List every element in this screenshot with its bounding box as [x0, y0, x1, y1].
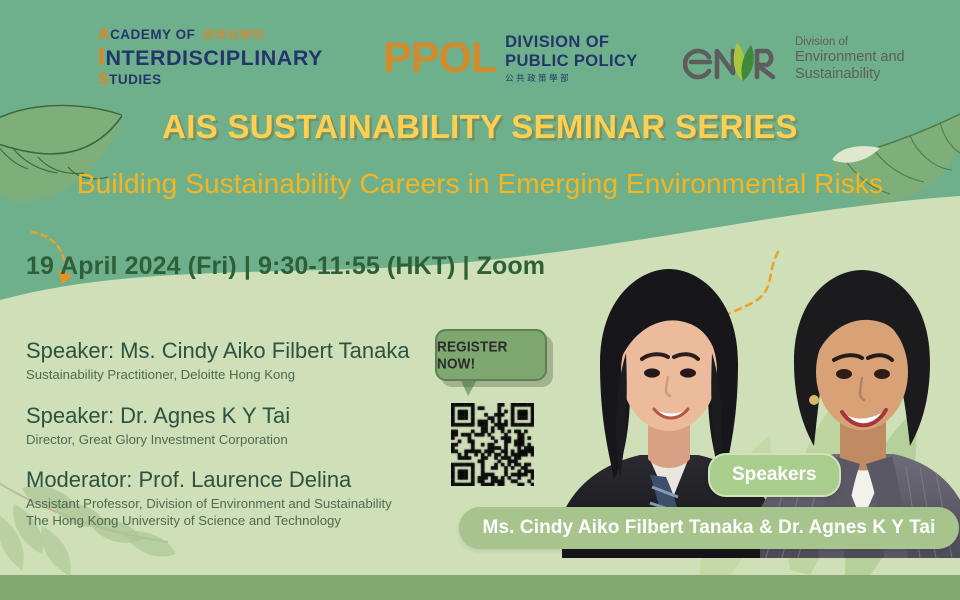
seminar-series-title: AIS SUSTAINABILITY SEMINAR SERIES — [0, 108, 960, 146]
ppol-chinese: 公共政策學部 — [505, 72, 638, 84]
people-list: Speaker: Ms. Cindy Aiko Filbert Tanaka S… — [26, 336, 456, 529]
person-entry: Speaker: Ms. Cindy Aiko Filbert Tanaka S… — [26, 336, 456, 383]
ais-logo-line2: NTERDISCIPLINARY — [105, 46, 322, 70]
seminar-subtitle: Building Sustainability Careers in Emerg… — [0, 168, 960, 200]
person-affiliation: Director, Great Glory Investment Corpora… — [26, 431, 456, 448]
qr-canvas — [451, 403, 534, 486]
person-entry: Speaker: Dr. Agnes K Y Tai Director, Gre… — [26, 401, 456, 448]
speakers-name-banner: Ms. Cindy Aiko Filbert Tanaka & Dr. Agne… — [459, 507, 959, 549]
envr-line1: Division of — [795, 35, 905, 49]
seminar-datetime: 19 April 2024 (Fri) | 9:30-11:55 (HKT) |… — [26, 252, 545, 281]
ppol-line2: PUBLIC POLICY — [505, 52, 638, 71]
person-role-name: Speaker: Dr. Agnes K Y Tai — [26, 401, 456, 431]
seminar-poster: ACADEMY OF 跨學科學院 INTERDISCIPLINARY STUDI… — [0, 0, 960, 600]
person-entry: Moderator: Prof. Laurence Delina Assista… — [26, 465, 456, 529]
speakers-badge: Speakers — [708, 453, 841, 497]
person-role-name: Moderator: Prof. Laurence Delina — [26, 465, 456, 495]
logo-division-of-environment-and-sustainability: Division of Environment and Sustainabili… — [683, 30, 905, 88]
person-affiliation: The Hong Kong University of Science and … — [26, 512, 456, 529]
ais-logo-cap-i: I — [98, 45, 105, 69]
register-callout[interactable]: REGISTER NOW! — [435, 329, 553, 401]
ais-logo-line3: TUDIES — [109, 72, 162, 87]
logo-division-of-public-policy: PPOL DIVISION OF PUBLIC POLICY 公共政策學部 — [383, 30, 638, 86]
ais-logo-line1: CADEMY OF — [110, 27, 195, 42]
ppol-line1: DIVISION OF — [505, 33, 638, 52]
envr-wordmark-icon — [683, 35, 783, 83]
envr-line3: Sustainability — [795, 66, 905, 83]
person-affiliation: Assistant Professor, Division of Environ… — [26, 495, 456, 512]
ais-logo-cap-s: S — [98, 72, 109, 87]
register-now-bubble[interactable]: REGISTER NOW! — [435, 329, 547, 381]
logo-bar: ACADEMY OF 跨學科學院 INTERDISCIPLINARY STUDI… — [0, 0, 960, 100]
envr-line2: Environment and — [795, 49, 905, 66]
ais-logo-cap-a: A — [98, 27, 110, 42]
person-role-name: Speaker: Ms. Cindy Aiko Filbert Tanaka — [26, 336, 456, 366]
logo-academy-of-interdisciplinary-studies: ACADEMY OF 跨學科學院 INTERDISCIPLINARY STUDI… — [98, 27, 348, 93]
person-affiliation: Sustainability Practitioner, Deloitte Ho… — [26, 366, 456, 383]
register-now-label: REGISTER NOW! — [437, 338, 545, 372]
registration-qr-code[interactable] — [451, 403, 534, 486]
ais-logo-chinese: 跨學科學院 — [202, 29, 265, 44]
ppol-wordmark: PPOL — [383, 37, 496, 80]
